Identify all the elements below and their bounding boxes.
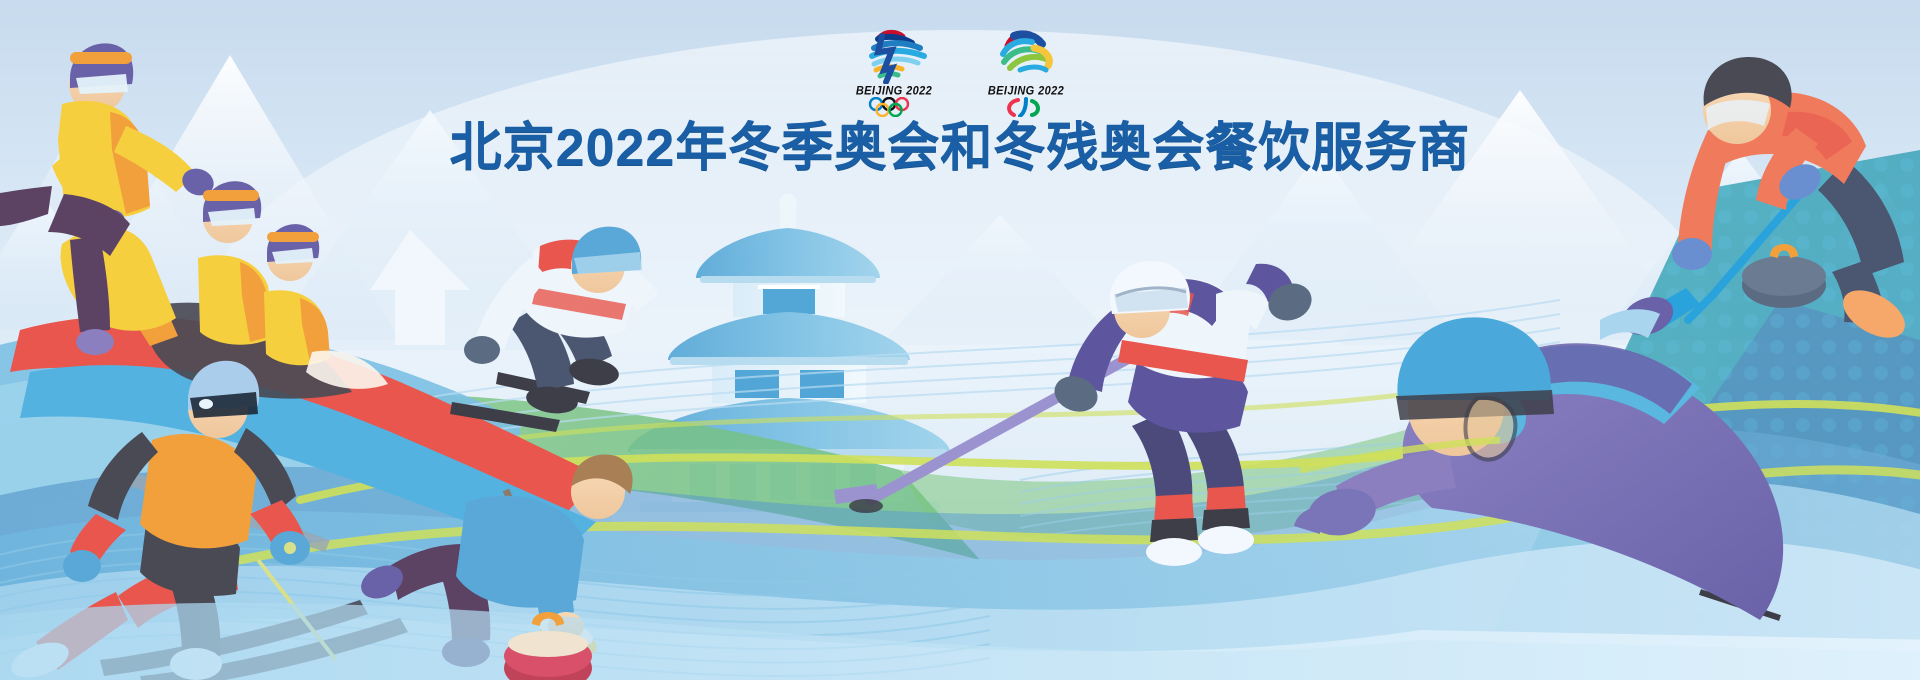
- foreground-wave: [0, 0, 1920, 680]
- olympic-banner: BEIJING 2022: [0, 0, 1920, 680]
